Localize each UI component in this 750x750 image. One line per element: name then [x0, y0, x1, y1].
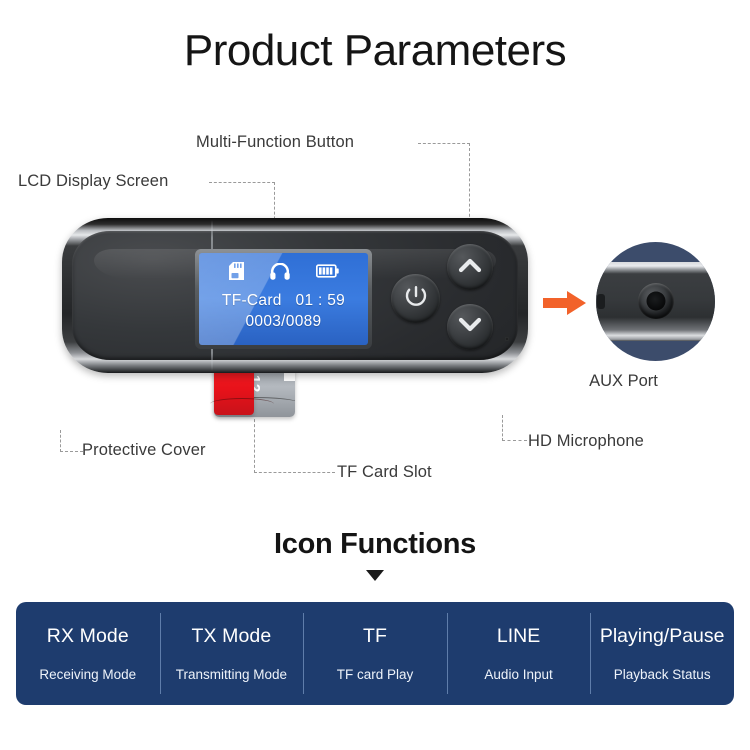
legend-column-tf: TF TF card Play: [303, 602, 447, 705]
legend-column-playing-pause: Playing/Pause Playback Status: [590, 602, 734, 705]
leader-line-lcd-horizontal: [209, 182, 275, 183]
leader-line-cover-vertical: [60, 430, 61, 452]
leader-line-microphone-horizontal: [502, 440, 527, 441]
headphone-icon: [270, 263, 290, 285]
hd-microphone-pinhole: [505, 337, 509, 341]
bluetooth-adapter-device: TF-Card 01 : 59 0003/0089: [62, 218, 528, 373]
lcd-display-screen: TF-Card 01 : 59 0003/0089: [195, 249, 372, 349]
lcd-time-text: 01 : 59: [296, 292, 346, 309]
chevron-down-icon: [458, 317, 482, 338]
icon-functions-legend: RX Mode Receiving Mode TX Mode Transmitt…: [16, 602, 734, 705]
leader-line-tf-slot-vertical: [254, 414, 255, 473]
callout-label-multi-function-button: Multi-Function Button: [196, 133, 354, 152]
aux-side-opening: [597, 294, 605, 309]
aux-port-inset: [596, 242, 715, 361]
protective-cover-curve: [210, 398, 274, 410]
leader-line-cover-horizontal: [60, 451, 83, 452]
legend-subtitle: Playback Status: [614, 667, 711, 682]
chevron-up-icon: [458, 257, 482, 278]
legend-title: LINE: [497, 625, 540, 648]
leader-line-microphone-vertical: [502, 415, 503, 441]
callout-label-tf-card-slot: TF Card Slot: [337, 463, 432, 482]
lcd-mode-and-time: TF-Card 01 : 59: [199, 292, 368, 310]
callout-label-hd-microphone: HD Microphone: [528, 432, 644, 451]
power-button[interactable]: [391, 274, 440, 323]
aux-port-jack: [638, 283, 674, 319]
callout-label-lcd-display-screen: LCD Display Screen: [18, 172, 168, 191]
legend-title: TF: [363, 625, 387, 648]
caret-down-icon: [366, 570, 384, 581]
protective-cover: [214, 367, 254, 415]
page-title: Product Parameters: [0, 26, 750, 77]
up-button[interactable]: [447, 244, 493, 290]
legend-column-line: LINE Audio Input: [447, 602, 591, 705]
legend-subtitle: TF card Play: [337, 667, 414, 682]
lcd-track-text: 0003/0089: [199, 313, 368, 331]
battery-icon: [316, 264, 339, 283]
power-icon: [403, 283, 429, 314]
leader-line-button-horizontal: [418, 143, 470, 144]
lcd-mode-text: TF-Card: [222, 292, 282, 309]
product-parameters-infographic: Product Parameters LCD Display Screen Mu…: [0, 0, 750, 750]
section-title: Icon Functions: [0, 528, 750, 561]
legend-column-rx-mode: RX Mode Receiving Mode: [16, 602, 160, 705]
legend-title: TX Mode: [191, 625, 271, 648]
down-button[interactable]: [447, 304, 493, 350]
legend-title: Playing/Pause: [600, 625, 725, 648]
sd-card-icon: [229, 262, 244, 285]
callout-label-aux-port-wrap: AUX Port: [0, 372, 750, 391]
legend-column-tx-mode: TX Mode Transmitting Mode: [160, 602, 304, 705]
callout-label-protective-cover: Protective Cover: [82, 441, 206, 460]
legend-subtitle: Receiving Mode: [39, 667, 136, 682]
aux-port-hole: [646, 292, 665, 311]
leader-line-tf-slot-horizontal: [254, 472, 335, 473]
lcd-status-icon-row: [199, 262, 368, 285]
legend-subtitle: Audio Input: [484, 667, 552, 682]
callout-label-aux-port: AUX Port: [589, 372, 658, 391]
orange-arrow-icon: [543, 290, 587, 316]
legend-title: RX Mode: [47, 625, 129, 648]
legend-subtitle: Transmitting Mode: [176, 667, 287, 682]
lcd-screen-surface: TF-Card 01 : 59 0003/0089: [199, 253, 368, 345]
